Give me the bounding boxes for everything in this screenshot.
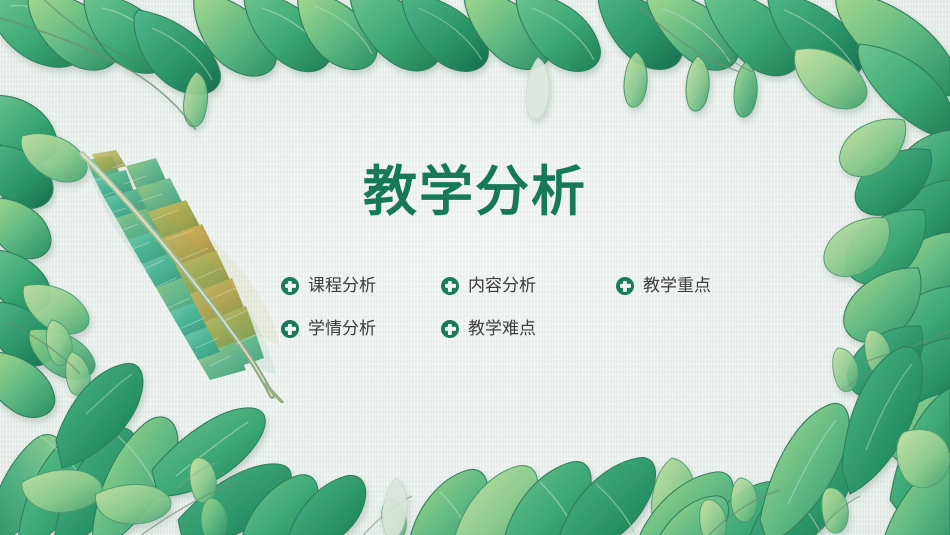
bullet-item-empty <box>616 315 786 343</box>
bullet-label: 学情分析 <box>308 321 376 338</box>
plus-circle-icon <box>616 277 634 295</box>
bullet-label: 课程分析 <box>308 278 376 295</box>
bullet-item-teaching-difficulty[interactable]: 教学难点 <box>441 315 616 343</box>
slide-canvas: 教学分析 课程分析 内容分析 教学重点 学情分析 <box>0 0 950 535</box>
plus-circle-icon <box>441 320 459 338</box>
bullet-item-content-analysis[interactable]: 内容分析 <box>441 272 616 300</box>
bullet-item-course-analysis[interactable]: 课程分析 <box>281 272 441 300</box>
bullet-item-student-analysis[interactable]: 学情分析 <box>281 315 441 343</box>
bullet-label: 教学重点 <box>643 278 711 295</box>
bullet-list: 课程分析 内容分析 教学重点 学情分析 教学难点 <box>281 272 801 358</box>
plus-circle-icon <box>441 277 459 295</box>
plus-circle-icon <box>281 320 299 338</box>
slide-content: 教学分析 课程分析 内容分析 教学重点 学情分析 <box>0 0 950 535</box>
bullet-label: 内容分析 <box>468 278 536 295</box>
bullet-row: 学情分析 教学难点 <box>281 315 801 358</box>
plus-circle-icon <box>281 277 299 295</box>
page-title: 教学分析 <box>0 163 950 221</box>
bullet-label: 教学难点 <box>468 321 536 338</box>
bullet-row: 课程分析 内容分析 教学重点 <box>281 272 801 315</box>
bullet-item-teaching-focus[interactable]: 教学重点 <box>616 272 786 300</box>
